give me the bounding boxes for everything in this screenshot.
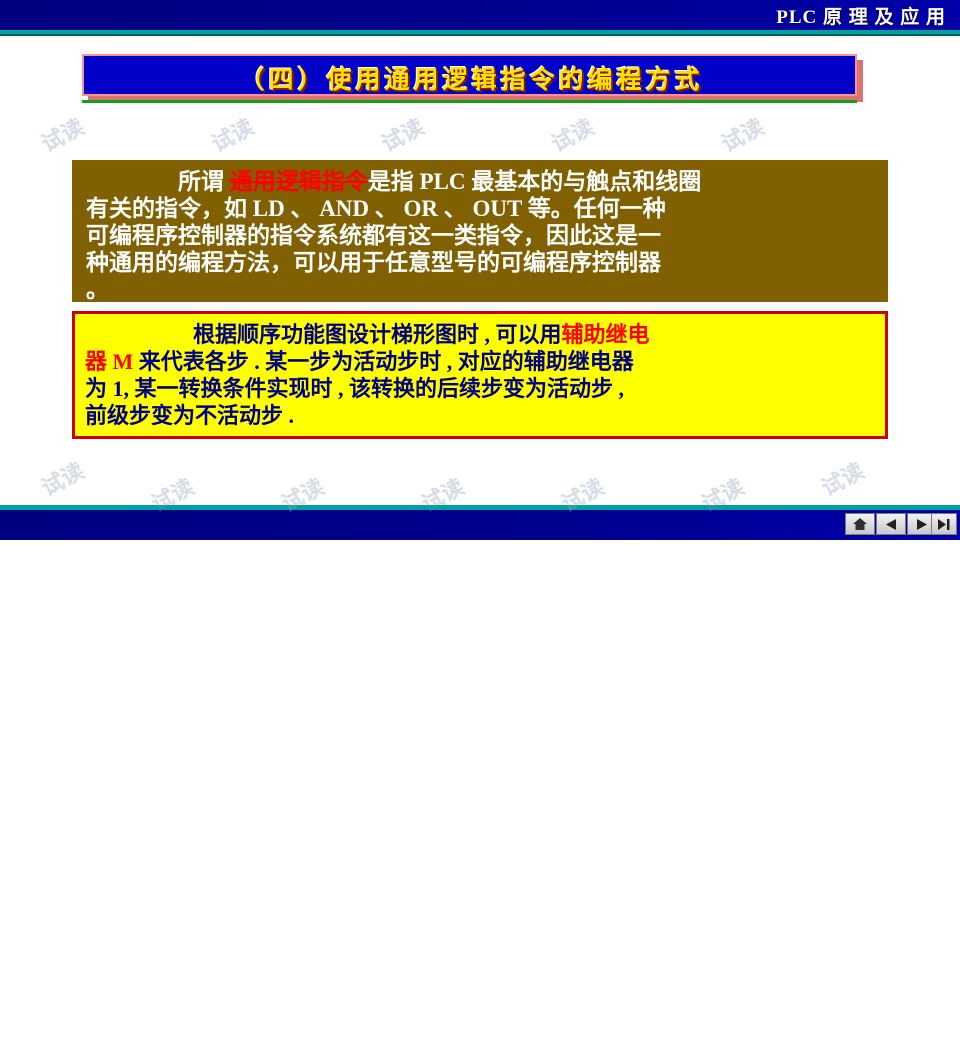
watermark-text: 试读 — [375, 110, 429, 159]
note-text: 根据顺序功能图设计梯形图时 , 可以用 — [193, 322, 562, 347]
definition-text: 是指 PLC 最基本的与触点和线圈 — [368, 169, 702, 194]
header-bar: PLC 原 理 及 应 用 — [0, 0, 960, 30]
note-text: 前级步变为不活动步 . — [85, 403, 294, 428]
note-line: 根据顺序功能图设计梯形图时 , 可以用辅助继电 — [85, 321, 875, 348]
definition-line: 可编程序控制器的指令系统都有这一类指令，因此这是一 — [86, 222, 874, 249]
header-title: PLC 原 理 及 应 用 — [776, 2, 946, 29]
last-button[interactable] — [931, 513, 957, 535]
watermark-text: 试读 — [815, 454, 869, 503]
slide-title: （四）使用通用逻辑指令的编程方式 — [84, 60, 859, 96]
note-text: 为 1, 某一转换条件实现时 , 该转换的后续步变为活动步 , — [85, 376, 624, 401]
definition-line: 有关的指令，如 LD 、 AND 、 OR 、 OUT 等。任何一种 — [86, 195, 874, 222]
triangle-left-icon — [884, 518, 898, 531]
note-highlight: 器 M — [85, 349, 133, 374]
prev-button[interactable] — [876, 513, 906, 535]
title-underline — [82, 100, 857, 103]
definition-line: 种通用的编程方法，可以用于任意型号的可编程序控制器 — [86, 249, 874, 276]
definition-text: 种通用的编程方法，可以用于任意型号的可编程序控制器 — [86, 250, 661, 275]
triangle-right-icon — [915, 518, 929, 531]
title-banner: （四）使用通用逻辑指令的编程方式 — [82, 54, 857, 96]
header-divider-dark — [0, 34, 960, 36]
definition-text: 。 — [86, 277, 109, 302]
footer-bar: 目录 — [0, 510, 960, 540]
definition-line: 所谓 通用逻辑指令是指 PLC 最基本的与触点和线圈 — [86, 168, 874, 195]
watermark-text: 试读 — [715, 110, 769, 159]
definition-text: 有关的指令，如 LD 、 AND 、 OR 、 OUT 等。任何一种 — [86, 196, 666, 221]
note-line: 为 1, 某一转换条件实现时 , 该转换的后续步变为活动步 , — [85, 375, 875, 402]
note-paragraph-block: 根据顺序功能图设计梯形图时 , 可以用辅助继电器 M 来代表各步 . 某一步为活… — [72, 311, 888, 439]
note-text: 来代表各步 . 某一步为活动步时 , 对应的辅助继电器 — [133, 349, 634, 374]
definition-paragraph-block: 所谓 通用逻辑指令是指 PLC 最基本的与触点和线圈有关的指令，如 LD 、 A… — [72, 160, 888, 302]
menu-label[interactable]: 目录 — [802, 1024, 832, 1044]
watermark-text: 试读 — [205, 110, 259, 159]
note-line: 前级步变为不活动步 . — [85, 402, 875, 429]
note-line: 器 M 来代表各步 . 某一步为活动步时 , 对应的辅助继电器 — [85, 348, 875, 375]
home-button[interactable] — [845, 513, 875, 535]
definition-highlight: 通用逻辑指令 — [230, 169, 368, 194]
home-icon — [852, 517, 868, 531]
definition-text: 所谓 — [178, 169, 230, 194]
watermark-text: 试读 — [35, 454, 89, 503]
definition-text: 可编程序控制器的指令系统都有这一类指令，因此这是一 — [86, 223, 661, 248]
watermark-text: 试读 — [35, 110, 89, 159]
watermark-text: 试读 — [545, 110, 599, 159]
triangle-right-bar-icon — [937, 518, 951, 531]
definition-line: 。 — [86, 276, 874, 303]
note-highlight: 辅助继电 — [562, 322, 650, 347]
